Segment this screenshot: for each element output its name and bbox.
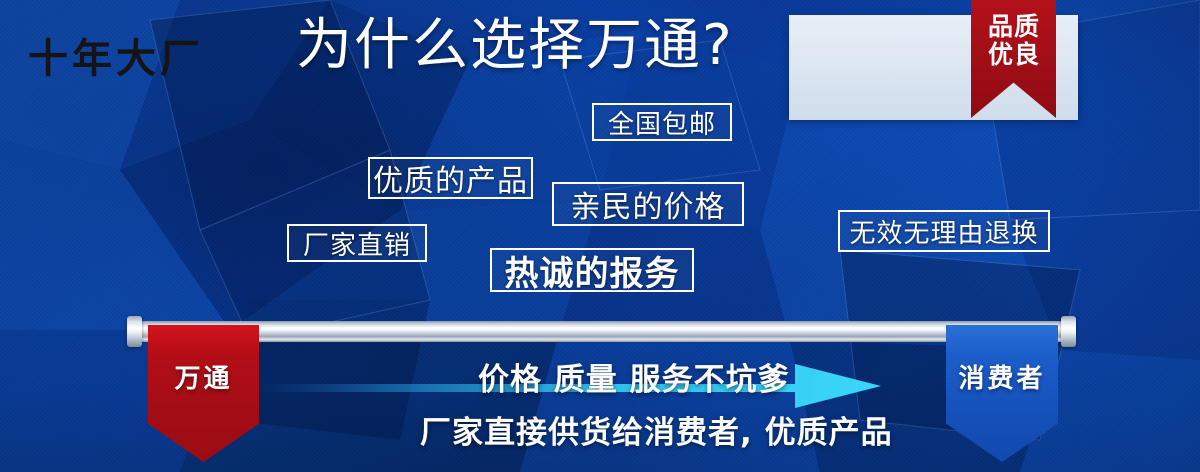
- slogan-secondary: 厂家直接供货给消费者, 优质产品: [420, 407, 893, 452]
- flag-consumer-label: 消费者: [958, 358, 1045, 395]
- ribbon-line-2: 优良: [975, 41, 1053, 69]
- feature-tag-fuwu: 热诚的报务: [490, 248, 694, 292]
- badge-label: 十年大厂: [28, 26, 204, 84]
- metal-rod: [127, 321, 1075, 342]
- feature-tag-zhixiao: 厂家直销: [287, 224, 427, 262]
- page-title: 为什么选择万通?: [296, 17, 734, 76]
- feature-tag-tuihuan: 无效无理由退换: [838, 210, 1050, 252]
- rod-cap-left: [127, 316, 142, 347]
- slogan-primary: 价格 质量 服务不坑爹: [478, 354, 790, 399]
- ribbon-line-1: 品质: [975, 13, 1053, 41]
- flag-manufacturer-label: 万通: [174, 358, 232, 395]
- feature-tag-chanpin: 优质的产品: [368, 157, 533, 199]
- rod-cap-right: [1061, 316, 1076, 347]
- promo-banner: 为什么选择万通? 十年大厂 品质 优良 全国包邮 优质的产品 亲民的价格 厂家直…: [0, 0, 1200, 472]
- feature-tag-jiage: 亲民的价格: [552, 182, 744, 226]
- ribbon-text: 品质 优良: [975, 13, 1053, 69]
- feature-tag-baoyou: 全国包邮: [592, 103, 732, 141]
